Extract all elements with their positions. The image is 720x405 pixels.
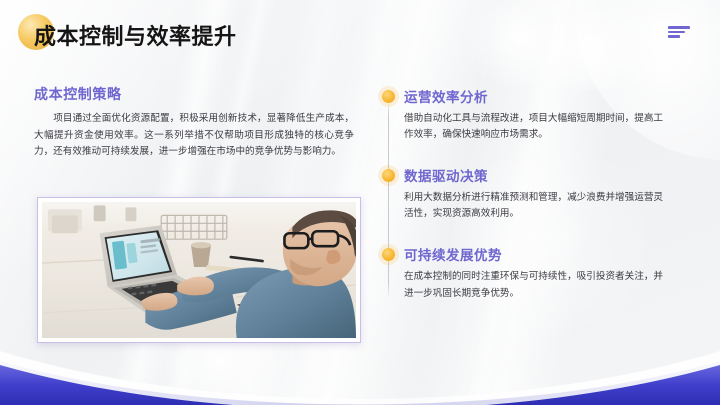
timeline-item-2[interactable]: 数据驱动决策 利用大数据分析进行精准预测和管理，减少浪费并增强运营灵活性，实现资… bbox=[378, 165, 678, 222]
timeline-item-body: 利用大数据分析进行精准预测和管理，减少浪费并增强运营灵活性，实现资源高效利用。 bbox=[404, 190, 666, 222]
menu-bar-2 bbox=[668, 31, 685, 34]
photo-illustration bbox=[42, 202, 356, 338]
bullet-dot-icon bbox=[382, 90, 395, 103]
menu-bar-1 bbox=[668, 26, 690, 29]
left-section: 成本控制策略 项目通过全面优化资源配置，积极采用创新技术，显著降低生产成本，大幅… bbox=[34, 84, 354, 161]
slide-canvas: 成本控制与效率提升 成本控制策略 项目通过全面优化资源配置，积极采用创新技术，显… bbox=[0, 0, 720, 405]
menu-bars-icon[interactable] bbox=[668, 26, 690, 38]
bullet-dot-icon bbox=[382, 248, 395, 261]
menu-bar-3 bbox=[668, 35, 680, 38]
left-section-heading: 成本控制策略 bbox=[34, 84, 354, 104]
photo-frame bbox=[37, 197, 361, 343]
timeline-section: 运营效率分析 借助自动化工具与流程改进，项目大幅缩短周期时间，提高工作效率，确保… bbox=[378, 86, 678, 324]
timeline-item-body: 在成本控制的同时注重环保与可持续性，吸引投资者关注，并进一步巩固长期竞争优势。 bbox=[404, 269, 666, 301]
timeline-item-1[interactable]: 运营效率分析 借助自动化工具与流程改进，项目大幅缩短周期时间，提高工作效率，确保… bbox=[378, 86, 678, 143]
timeline-item-body: 借助自动化工具与流程改进，项目大幅缩短周期时间，提高工作效率，确保快速响应市场需… bbox=[404, 111, 666, 143]
timeline-item-title: 数据驱动决策 bbox=[404, 165, 678, 185]
page-title: 成本控制与效率提升 bbox=[34, 19, 237, 51]
timeline-item-3[interactable]: 可持续发展优势 在成本控制的同时注重环保与可持续性，吸引投资者关注，并进一步巩固… bbox=[378, 244, 678, 301]
photo-laptop-user bbox=[42, 202, 356, 338]
timeline-item-title: 运营效率分析 bbox=[404, 86, 678, 106]
bullet-dot-icon bbox=[382, 169, 395, 182]
timeline-item-title: 可持续发展优势 bbox=[404, 244, 678, 264]
left-section-body: 项目通过全面优化资源配置，积极采用创新技术，显著降低生产成本，大幅提升资金使用效… bbox=[34, 111, 354, 161]
